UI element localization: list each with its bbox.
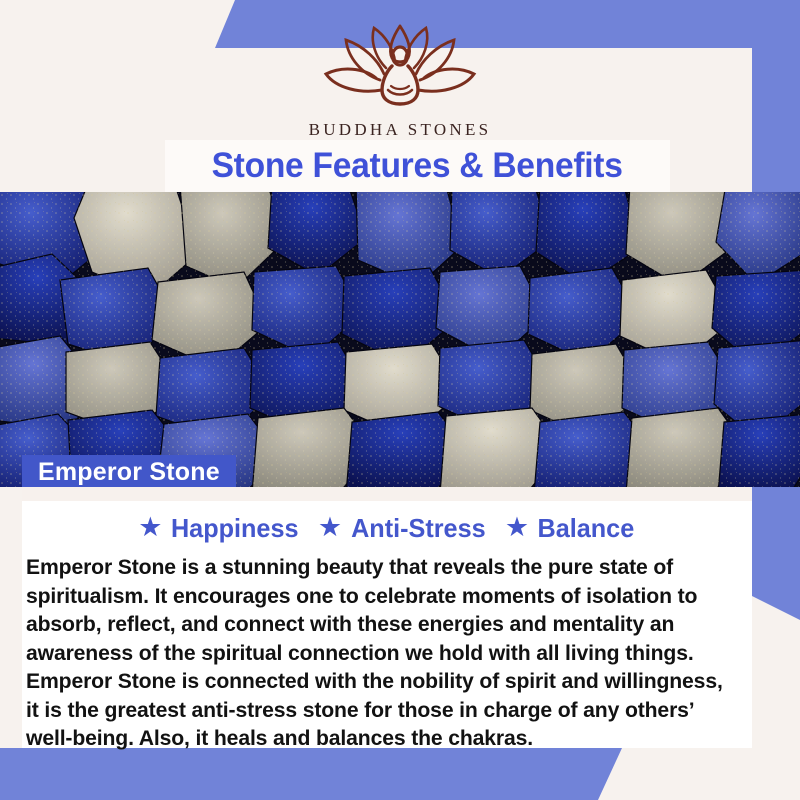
benefits-row: ★ Happiness ★ Anti-Stress ★ Balance xyxy=(22,513,752,544)
benefit-item: ★ Happiness xyxy=(138,513,301,544)
benefit-label: Anti-Stress xyxy=(351,513,486,544)
benefit-label: Happiness xyxy=(171,513,299,544)
description-block: Emperor Stone is a stunning beauty that … xyxy=(26,553,748,753)
brand-logo: BUDDHA STONES xyxy=(0,22,800,140)
poster-root: BUDDHA STONES Stone Features & Benefits xyxy=(0,0,800,800)
lotus-meditation-icon xyxy=(312,22,488,118)
star-icon: ★ xyxy=(318,514,342,541)
benefit-item: ★ Balance xyxy=(505,513,636,544)
frame-band-bottom xyxy=(0,748,622,800)
hero-photo xyxy=(0,192,800,487)
lapis-lazuli-stones-illustration xyxy=(0,192,800,487)
content-top-edge xyxy=(22,487,752,501)
star-icon: ★ xyxy=(138,514,162,541)
benefit-item: ★ Anti-Stress xyxy=(318,513,488,544)
title-plate: Stone Features & Benefits xyxy=(165,140,670,192)
page-title: Stone Features & Benefits xyxy=(212,146,623,186)
brand-name: BUDDHA STONES xyxy=(0,120,800,140)
star-icon: ★ xyxy=(505,514,529,541)
content-panel: ★ Happiness ★ Anti-Stress ★ Balance Empe… xyxy=(22,487,752,748)
description-paragraph: Emperor Stone is a stunning beauty that … xyxy=(26,553,737,667)
description-paragraph: Emperor Stone is connected with the nobi… xyxy=(26,667,737,753)
benefit-label: Balance xyxy=(538,513,635,544)
stone-name-badge: Emperor Stone xyxy=(22,455,236,491)
